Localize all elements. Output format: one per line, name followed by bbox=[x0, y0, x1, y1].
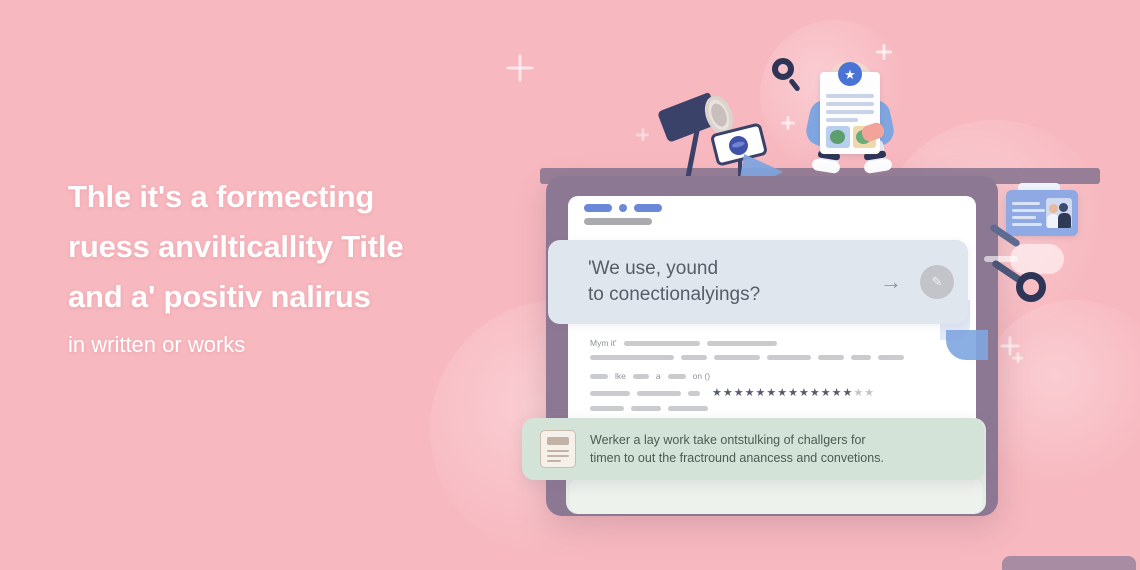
placeholder-bar bbox=[631, 406, 661, 411]
certificate-text-line bbox=[826, 110, 874, 114]
content-row-label-part: lke bbox=[615, 371, 626, 381]
magnifier-icon bbox=[1016, 272, 1046, 302]
placeholder-bar bbox=[767, 355, 811, 360]
placeholder-bar bbox=[590, 374, 608, 379]
character-sock-left bbox=[818, 150, 841, 160]
content-row-label: Mym it' bbox=[590, 338, 617, 348]
content-row bbox=[590, 406, 910, 411]
character-shoe-right bbox=[863, 158, 893, 174]
character-head bbox=[828, 62, 872, 92]
content-row-label-part: a bbox=[656, 371, 661, 381]
certificate-icon bbox=[820, 72, 880, 154]
content-row-label-part: on () bbox=[693, 371, 710, 381]
placeholder-bar bbox=[668, 406, 708, 411]
document-icon-line bbox=[547, 450, 569, 452]
placeholder-bar bbox=[590, 391, 630, 396]
notification-text: Werker a lay work take ontstulking of ch… bbox=[590, 431, 884, 467]
background-blob bbox=[980, 300, 1140, 490]
notification-backdrop-lower bbox=[570, 478, 982, 514]
placeholder-bar bbox=[637, 391, 681, 396]
search-query-line-1: 'We use, yound bbox=[588, 256, 760, 282]
notification-line-2: timen to out the fractround anancess and… bbox=[590, 449, 884, 467]
headline-line-1: Thle it's a formecting bbox=[68, 172, 488, 222]
document-icon-line bbox=[547, 455, 569, 457]
document-icon-header bbox=[547, 437, 569, 445]
content-rows: Mym it' lke a on () ★★★★★★★★★★★★★★★ bbox=[590, 338, 910, 418]
character-leg-right bbox=[864, 139, 888, 174]
search-panel[interactable]: 'We use, yound to conectionalyings? → ✎ bbox=[548, 240, 968, 324]
placeholder-bar bbox=[878, 355, 904, 360]
character-sock-right bbox=[864, 150, 887, 160]
certificate-text-line bbox=[826, 102, 874, 106]
megaphone-cone bbox=[700, 92, 739, 139]
tool-icon[interactable]: ✎ bbox=[920, 265, 954, 299]
megaphone-inner bbox=[708, 101, 730, 128]
sparkle-icon bbox=[1012, 352, 1023, 363]
background-blob bbox=[760, 20, 910, 170]
star-filled-icon[interactable]: ★ bbox=[788, 388, 798, 399]
search-query-text: 'We use, yound to conectionalyings? bbox=[588, 256, 760, 308]
certificate-image-globe-1 bbox=[826, 126, 850, 148]
certificate-text-line bbox=[826, 94, 874, 98]
phone-globe-icon bbox=[710, 122, 768, 167]
star-empty-icon[interactable]: ★ bbox=[864, 388, 874, 399]
sparkle-icon bbox=[1000, 336, 1020, 356]
megaphone-icon bbox=[657, 92, 721, 143]
star-filled-icon[interactable]: ★ bbox=[745, 388, 755, 399]
star-empty-icon[interactable]: ★ bbox=[853, 388, 863, 399]
page-headline: Thle it's a formecting ruess anvilticall… bbox=[68, 172, 488, 322]
globe-icon bbox=[727, 134, 750, 157]
address-bar[interactable] bbox=[584, 218, 652, 225]
decorative-pill bbox=[1010, 244, 1064, 274]
id-card-line bbox=[1012, 223, 1042, 226]
document-icon bbox=[540, 430, 576, 468]
placeholder-bar bbox=[818, 355, 844, 360]
placeholder-bar bbox=[590, 355, 674, 360]
sparkle-icon bbox=[636, 128, 649, 141]
hero-copy: Thle it's a formecting ruess anvilticall… bbox=[68, 172, 488, 360]
notification-toast[interactable]: Werker a lay work take ontstulking of ch… bbox=[522, 418, 984, 480]
star-filled-icon[interactable]: ★ bbox=[723, 388, 733, 399]
headline-line-3: and a' positiv nalirus bbox=[68, 272, 488, 322]
notification-line-1: Werker a lay work take ontstulking of ch… bbox=[590, 431, 884, 449]
character-hand bbox=[860, 121, 886, 143]
star-filled-icon[interactable]: ★ bbox=[756, 388, 766, 399]
character-arm-left bbox=[804, 97, 843, 148]
arrow-right-icon[interactable]: → bbox=[880, 271, 902, 293]
search-query-line-2: to conectionalyings? bbox=[588, 282, 760, 308]
certificate-text-line bbox=[826, 118, 858, 122]
placeholder-bar bbox=[624, 341, 700, 346]
placeholder-bar bbox=[590, 406, 624, 411]
headline-line-2: ruess anvilticallity Title bbox=[68, 222, 488, 272]
id-card-photo bbox=[1046, 198, 1072, 228]
star-filled-icon[interactable]: ★ bbox=[843, 388, 853, 399]
star-filled-icon[interactable]: ★ bbox=[810, 388, 820, 399]
sparkle-icon bbox=[781, 116, 795, 130]
certificate-image-globe-2 bbox=[853, 126, 876, 148]
placeholder-bar bbox=[668, 374, 686, 379]
star-filled-icon[interactable]: ★ bbox=[712, 388, 722, 399]
avatar-body bbox=[1058, 213, 1071, 228]
character-shoe-left bbox=[811, 158, 841, 174]
sparkle-icon bbox=[506, 54, 534, 82]
content-row: lke a on () bbox=[590, 371, 910, 381]
id-card-line bbox=[1012, 209, 1045, 212]
character-arm-right bbox=[858, 97, 897, 148]
placeholder-bar bbox=[707, 341, 777, 346]
content-row: Mym it' bbox=[590, 338, 910, 348]
id-card-line bbox=[1012, 202, 1040, 205]
browser-nav-controls[interactable] bbox=[584, 204, 662, 212]
page-subtitle: in written or works bbox=[68, 330, 488, 360]
avatar bbox=[1059, 203, 1068, 212]
star-rating[interactable]: ★★★★★★★★★★★★★★★ bbox=[712, 388, 874, 399]
megaphone-stand bbox=[685, 128, 700, 180]
content-row bbox=[590, 355, 910, 360]
id-card-line bbox=[1012, 216, 1036, 219]
star-filled-icon[interactable]: ★ bbox=[821, 388, 831, 399]
star-badge-icon: ★ bbox=[838, 62, 862, 86]
placeholder-bar bbox=[714, 355, 760, 360]
bottom-corner-nub bbox=[1002, 556, 1136, 570]
document-icon-line bbox=[547, 460, 561, 462]
nav-dot-icon[interactable] bbox=[619, 204, 627, 212]
star-filled-icon[interactable]: ★ bbox=[766, 388, 776, 399]
placeholder-bar bbox=[633, 374, 649, 379]
star-filled-icon[interactable]: ★ bbox=[799, 388, 809, 399]
placeholder-bar bbox=[681, 355, 707, 360]
star-filled-icon[interactable]: ★ bbox=[777, 388, 787, 399]
character-leg-left bbox=[818, 139, 842, 174]
nav-pill-icon[interactable] bbox=[634, 204, 662, 212]
avatar bbox=[1049, 204, 1058, 213]
star-filled-icon[interactable]: ★ bbox=[832, 388, 842, 399]
star-filled-icon[interactable]: ★ bbox=[734, 388, 744, 399]
magnifier-handle bbox=[788, 78, 801, 92]
decorative-bar bbox=[984, 256, 1018, 262]
placeholder-bar bbox=[851, 355, 871, 360]
placeholder-bar bbox=[688, 391, 700, 396]
magnifier-icon bbox=[772, 58, 794, 80]
nav-pill-icon[interactable] bbox=[584, 204, 612, 212]
sparkle-icon bbox=[876, 44, 892, 60]
rating-row: ★★★★★★★★★★★★★★★ bbox=[590, 388, 910, 399]
